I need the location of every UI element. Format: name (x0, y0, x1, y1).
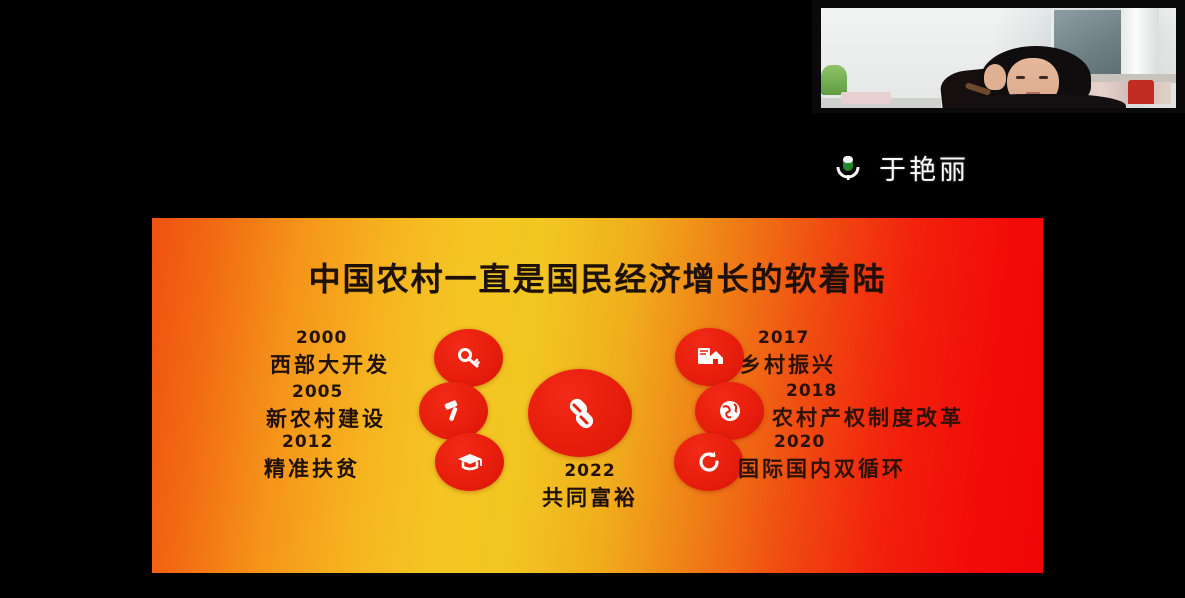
person-eye-left (1016, 76, 1025, 79)
label-2000-year: 2000 (296, 328, 390, 348)
background-red-object (1128, 80, 1154, 104)
meeting-screen: 于艳丽 中国农村一直是国民经济增长的软着陆 (0, 0, 1185, 598)
home-icon (696, 344, 724, 370)
node-2012[interactable] (435, 433, 504, 491)
label-2012-year: 2012 (282, 432, 360, 452)
label-2012-text: 精准扶贫 (264, 453, 360, 483)
label-2022-text: 共同富裕 (525, 482, 655, 512)
label-2020-year: 2020 (774, 432, 906, 452)
presentation-slide[interactable]: 中国农村一直是国民经济增长的软着陆 (152, 218, 1043, 573)
label-2020-text: 国际国内双循环 (738, 453, 906, 483)
person-hand (984, 64, 1006, 90)
label-2022-year: 2022 (525, 461, 655, 481)
node-2000[interactable] (434, 329, 503, 387)
label-2005-text: 新农村建设 (266, 403, 386, 433)
center-node-2022[interactable] (528, 369, 632, 457)
node-2020[interactable] (674, 433, 743, 491)
label-2018-year: 2018 (786, 381, 964, 401)
chain-link-icon (559, 392, 601, 434)
label-2017-year: 2017 (758, 328, 836, 348)
person-eye-right (1039, 76, 1048, 79)
key-icon (456, 345, 482, 371)
label-2000: 2000 西部大开发 (270, 328, 390, 379)
slide-title: 中国农村一直是国民经济增长的软着陆 (152, 254, 1043, 300)
label-2012: 2012 精准扶贫 (264, 432, 360, 483)
webcam-video-frame (821, 8, 1176, 108)
graduation-cap-icon (456, 448, 484, 476)
node-2017[interactable] (675, 328, 744, 386)
hammer-icon (441, 398, 467, 424)
webcam-video-thumbnail[interactable] (812, 0, 1185, 113)
background-desk-object (841, 92, 891, 104)
person-torso (961, 94, 1126, 108)
label-2005: 2005 新农村建设 (266, 382, 386, 433)
node-2005[interactable] (419, 382, 488, 440)
refresh-cycle-icon (696, 449, 722, 475)
label-2020: 2020 国际国内双循环 (738, 432, 906, 483)
label-2017-text: 乡村振兴 (740, 349, 836, 379)
label-2000-text: 西部大开发 (270, 349, 390, 379)
microphone-icon (833, 153, 863, 183)
label-2018: 2018 农村产权制度改革 (772, 381, 964, 432)
label-2017: 2017 乡村振兴 (740, 328, 836, 379)
label-2005-year: 2005 (292, 382, 386, 402)
label-2018-text: 农村产权制度改革 (772, 402, 964, 432)
globe-icon (717, 398, 743, 424)
speaker-name: 于艳丽 (879, 148, 969, 187)
background-plant (821, 65, 847, 95)
label-2022: 2022 共同富裕 (525, 461, 655, 512)
active-speaker-label: 于艳丽 (833, 148, 969, 187)
